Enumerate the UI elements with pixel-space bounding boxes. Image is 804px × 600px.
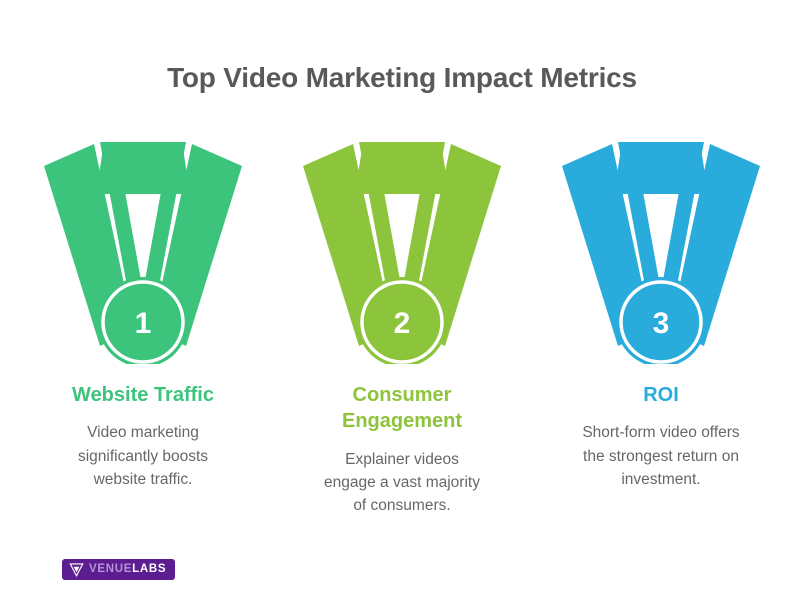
metric-description: Short-form video offers the strongest re… [571,421,751,491]
metric-card-3: 3 ROI Short-form video offers the strong… [540,134,782,491]
logo-word-labs: LABS [132,563,166,575]
page-title: Top Video Marketing Impact Metrics [0,62,804,94]
logo-word-venue: VENUE [89,563,132,575]
medal-rank-number: 1 [135,307,152,340]
medal-rank-number: 2 [394,307,411,340]
medal-icon: 2 [297,134,507,364]
metric-card-1: 1 Website Traffic Video marketing signif… [22,134,264,491]
metrics-columns: 1 Website Traffic Video marketing signif… [22,134,782,518]
metric-description: Video marketing significantly boosts web… [57,421,229,491]
corner-watermark: venuelabs [752,586,796,596]
infographic-slide: Top Video Marketing Impact Metrics [0,0,804,600]
metric-heading: Website Traffic [36,382,251,408]
metric-description: Explainer videos engage a vast majority … [322,448,482,518]
venuelabs-logo[interactable]: VENUELABS [62,559,175,580]
logo-wordmark: VENUELABS [89,564,166,576]
medal-icon: 1 [38,134,248,364]
medal-rank-number: 3 [653,307,670,340]
medal-medallion: 2 [357,277,447,364]
medal-medallion: 3 [616,277,706,364]
medal-icon: 3 [556,134,766,364]
metric-card-2: 2 Consumer Engagement Explainer videos e… [281,134,523,518]
metric-heading: ROI [554,382,769,408]
venuelabs-v-icon [69,562,84,577]
medal-medallion: 1 [98,277,188,364]
metric-heading: Consumer Engagement [295,382,510,435]
